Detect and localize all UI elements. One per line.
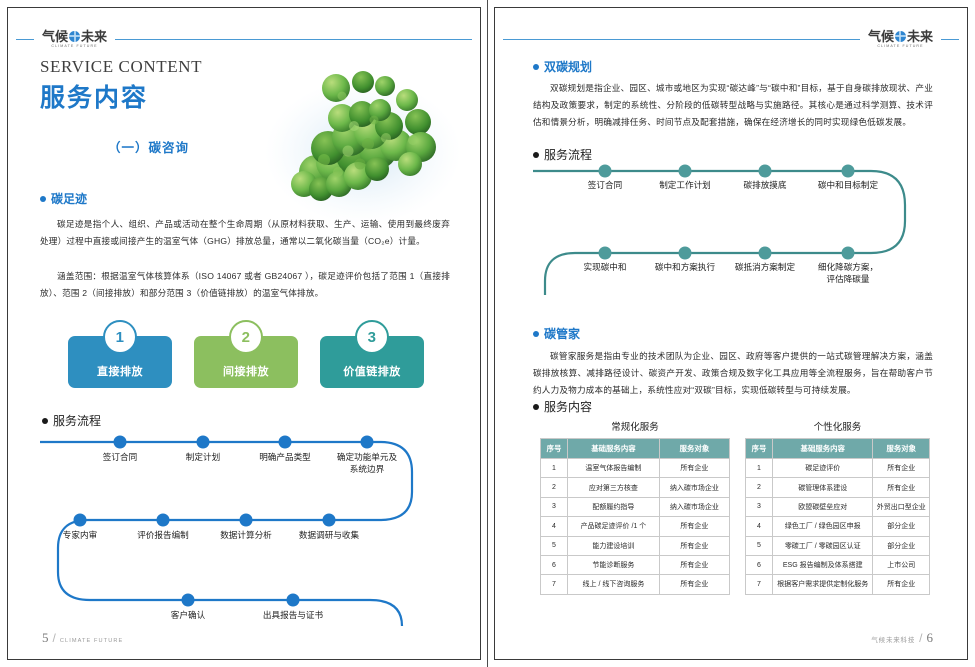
cell-service: 应对第三方核查 [568, 478, 660, 497]
cell-service: 根据客户需求提供定制化服务 [773, 575, 873, 594]
col-index: 序号 [746, 439, 773, 459]
flow-step-r1-3: 碳排放摸底 [722, 180, 808, 192]
flow-step-l1-1: 签订合同 [80, 452, 160, 464]
heading-dual-carbon-plan: 双碳规划 [533, 58, 592, 75]
right-page-header: 气候 未来 CLIMATE FUTURE [503, 28, 959, 50]
heading-service-flow-right: 服务流程 [533, 146, 592, 163]
cell-index: 6 [746, 555, 773, 574]
table-row: 1 温室气体报告编制 所有企业 [541, 459, 730, 478]
cell-index: 4 [746, 517, 773, 536]
bullet-icon [533, 64, 539, 70]
cell-index: 5 [541, 536, 568, 555]
logo-text-en: CLIMATE FUTURE [51, 45, 97, 49]
col-target: 服务对象 [659, 439, 729, 459]
scope-cards: 1 直接排放 2 间接排放 3 价值链排放 [68, 322, 428, 394]
page-number-right: 6 [927, 630, 934, 646]
flow-step-r1-2: 制定工作计划 [642, 180, 728, 192]
flow-step-r1-1: 签订合同 [565, 180, 645, 192]
table-row: 1 碳足迹评价 所有企业 [746, 459, 930, 478]
logo-text-cn-part1-right: 气候 [868, 30, 894, 43]
cell-service: 产品碳足迹评价 /1 个 [568, 517, 660, 536]
scope-card-3[interactable]: 3 价值链排放 [320, 336, 424, 388]
flow-step-r2-3: 碳抵消方案制定 [719, 262, 811, 274]
heading-text: 碳足迹 [51, 190, 87, 207]
cell-index: 6 [541, 555, 568, 574]
cell-service: 节能诊断服务 [568, 555, 660, 574]
header-rule-end [115, 39, 472, 40]
cell-target: 部分企业 [873, 536, 930, 555]
cell-service: 能力建设培训 [568, 536, 660, 555]
bullet-icon [40, 196, 46, 202]
cell-target: 部分企业 [873, 517, 930, 536]
table-row: 6 ESG 报告编制及体系搭建 上市公司 [746, 555, 930, 574]
left-page-footer: 5 / CLIMATE FUTURE [42, 630, 123, 646]
scope-label-2: 间接排放 [223, 363, 269, 379]
header-rule-start-right [503, 39, 860, 40]
flow-step-l1-3: 明确产品类型 [242, 452, 328, 464]
col-service: 基础服务内容 [568, 439, 660, 459]
heading-text: 服务内容 [544, 398, 592, 415]
flow-step-r2-2: 碳中和方案执行 [640, 262, 730, 274]
cell-target: 所有企业 [659, 555, 729, 574]
heading-text: 碳管家 [544, 325, 580, 342]
cell-target: 所有企业 [873, 478, 930, 497]
flow-step-l2-1: 专家内审 [40, 530, 120, 542]
cell-target: 所有企业 [873, 459, 930, 478]
footer-slash: / [53, 631, 56, 645]
paragraph-carbon-butler: 碳管家服务是指由专业的技术团队为企业、园区、政府等客户提供的一站式碳管理解决方案… [533, 348, 933, 398]
paragraph-dual-carbon: 双碳规划是指企业、园区、城市或地区为实现“碳达峰”与“碳中和”目标，基于自身碳排… [533, 80, 933, 130]
bullet-icon [533, 152, 539, 158]
col-index: 序号 [541, 439, 568, 459]
flow-step-r2-4: 细化降碳方案， 评估降碳量 [802, 262, 894, 285]
table-standard-services: 序号 基础服务内容 服务对象 1 温室气体报告编制 所有企业 2 应对第三方核查… [540, 438, 730, 595]
bullet-icon [533, 331, 539, 337]
cell-index: 7 [746, 575, 773, 594]
page-number-left: 5 [42, 630, 49, 646]
page-spine-divider [487, 0, 488, 667]
cell-target: 所有企业 [873, 575, 930, 594]
table-header-row: 序号 基础服务内容 服务对象 [746, 439, 930, 459]
scope-number-1: 1 [103, 320, 137, 354]
cell-target: 纳入碳市场企业 [659, 478, 729, 497]
page-title-cn: 服务内容 [40, 78, 148, 114]
heading-text: 服务流程 [544, 146, 592, 163]
cell-target: 所有企业 [659, 575, 729, 594]
scope-number-3: 3 [355, 320, 389, 354]
cell-index: 5 [746, 536, 773, 555]
table-row: 2 碳管理体系建设 所有企业 [746, 478, 930, 497]
cell-index: 2 [541, 478, 568, 497]
cell-service: 碳管理体系建设 [773, 478, 873, 497]
cell-service: 配额履约指导 [568, 497, 660, 516]
flow-step-l2-4: 数据调研与收集 [283, 530, 375, 542]
heading-service-flow-left: 服务流程 [42, 412, 101, 429]
col-target: 服务对象 [873, 439, 930, 459]
footer-slash-right: / [919, 631, 922, 645]
scope-label-1: 直接排放 [97, 363, 143, 379]
scope-card-1[interactable]: 1 直接排放 [68, 336, 172, 388]
bullet-icon [533, 404, 539, 410]
brand-logo: 气候 未来 CLIMATE FUTURE [34, 30, 115, 49]
scope-card-2[interactable]: 2 间接排放 [194, 336, 298, 388]
logo-text-cn-part2: 未来 [81, 30, 107, 43]
table-custom-services: 序号 基础服务内容 服务对象 1 碳足迹评价 所有企业 2 碳管理体系建设 所有… [745, 438, 930, 595]
page-title-en: SERVICE CONTENT [40, 57, 202, 77]
table-row: 5 零碳工厂 / 零碳园区认证 部分企业 [746, 536, 930, 555]
table-row: 7 根据客户需求提供定制化服务 所有企业 [746, 575, 930, 594]
header-rule-end-right [941, 39, 959, 40]
cell-service: 温室气体报告编制 [568, 459, 660, 478]
globe-icon-right [895, 31, 906, 42]
table-row: 7 线上 / 线下咨询服务 所有企业 [541, 575, 730, 594]
cell-index: 3 [541, 497, 568, 516]
header-rule-start [16, 39, 34, 40]
scope-number-2: 2 [229, 320, 263, 354]
heading-text: 服务流程 [53, 412, 101, 429]
cell-index: 1 [746, 459, 773, 478]
flow-step-l2-3: 数据计算分析 [203, 530, 289, 542]
cell-service: 零碳工厂 / 零碳园区认证 [773, 536, 873, 555]
paragraph-carbon-footprint-2: 涵盖范围：根据温室气体核算体系（ISO 14067 或者 GB24067 ），碳… [40, 268, 450, 302]
table-header-row: 序号 基础服务内容 服务对象 [541, 439, 730, 459]
flow-step-l3-1: 客户确认 [148, 610, 228, 622]
flow-step-r1-4: 碳中和目标制定 [802, 180, 894, 192]
cell-index: 1 [541, 459, 568, 478]
heading-carbon-footprint: 碳足迹 [40, 190, 87, 207]
right-page-footer: 气候未来科技 / 6 [871, 630, 933, 646]
table-row: 3 配额履约指导 纳入碳市场企业 [541, 497, 730, 516]
cell-service: 欧盟碳壁垒应对 [773, 497, 873, 516]
table-row: 3 欧盟碳壁垒应对 外贸出口型企业 [746, 497, 930, 516]
scope-label-3: 价值链排放 [343, 363, 401, 379]
cell-service: 碳足迹评价 [773, 459, 873, 478]
cell-target: 纳入碳市场企业 [659, 497, 729, 516]
left-page-header: 气候 未来 CLIMATE FUTURE [16, 28, 472, 50]
table-row: 6 节能诊断服务 所有企业 [541, 555, 730, 574]
heading-text: 双碳规划 [544, 58, 592, 75]
cell-index: 3 [746, 497, 773, 516]
cell-target: 所有企业 [659, 459, 729, 478]
flow-step-l2-2: 评价报告编制 [120, 530, 206, 542]
cell-index: 4 [541, 517, 568, 536]
brand-logo-right: 气候 未来 CLIMATE FUTURE [860, 30, 941, 49]
table-caption-custom: 个性化服务 [745, 419, 930, 433]
cell-index: 2 [746, 478, 773, 497]
heading-carbon-butler: 碳管家 [533, 325, 580, 342]
bullet-icon [42, 418, 48, 424]
heading-service-content-right: 服务内容 [533, 398, 592, 415]
table-row: 5 能力建设培训 所有企业 [541, 536, 730, 555]
flow-step-r2-1: 实现碳中和 [565, 262, 645, 274]
cell-index: 7 [541, 575, 568, 594]
paragraph-carbon-footprint-1: 碳足迹是指个人、组织、产品或活动在整个生命周期（从原材料获取、生产、运输、使用到… [40, 216, 450, 250]
logo-text-cn-part2-right: 未来 [907, 30, 933, 43]
cell-target: 外贸出口型企业 [873, 497, 930, 516]
cell-service: 绿色工厂 / 绿色园区申报 [773, 517, 873, 536]
cell-service: ESG 报告编制及体系搭建 [773, 555, 873, 574]
brochure-spread: 气候 未来 CLIMATE FUTURE 气候 未来 CLIMATE FUTUR… [0, 0, 975, 667]
logo-text-en-right: CLIMATE FUTURE [877, 45, 923, 49]
section-label-carbon-consulting: （一）碳咨询 [108, 137, 189, 156]
flow-step-l1-4: 确定功能单元及 系统边界 [324, 452, 410, 475]
table-row: 2 应对第三方核查 纳入碳市场企业 [541, 478, 730, 497]
table-caption-standard: 常规化服务 [540, 419, 730, 433]
globe-icon [69, 31, 80, 42]
cell-target: 上市公司 [873, 555, 930, 574]
flow-step-l3-2: 出具报告与证书 [243, 610, 343, 622]
cell-target: 所有企业 [659, 536, 729, 555]
flow-step-l1-2: 制定计划 [163, 452, 243, 464]
logo-text-cn-part1: 气候 [42, 30, 68, 43]
cell-target: 所有企业 [659, 517, 729, 536]
cell-service: 线上 / 线下咨询服务 [568, 575, 660, 594]
table-row: 4 绿色工厂 / 绿色园区申报 部分企业 [746, 517, 930, 536]
col-service: 基础服务内容 [773, 439, 873, 459]
table-row: 4 产品碳足迹评价 /1 个 所有企业 [541, 517, 730, 536]
footer-brand-text: CLIMATE FUTURE [60, 638, 123, 644]
footer-brand-text-right: 气候未来科技 [871, 634, 915, 644]
